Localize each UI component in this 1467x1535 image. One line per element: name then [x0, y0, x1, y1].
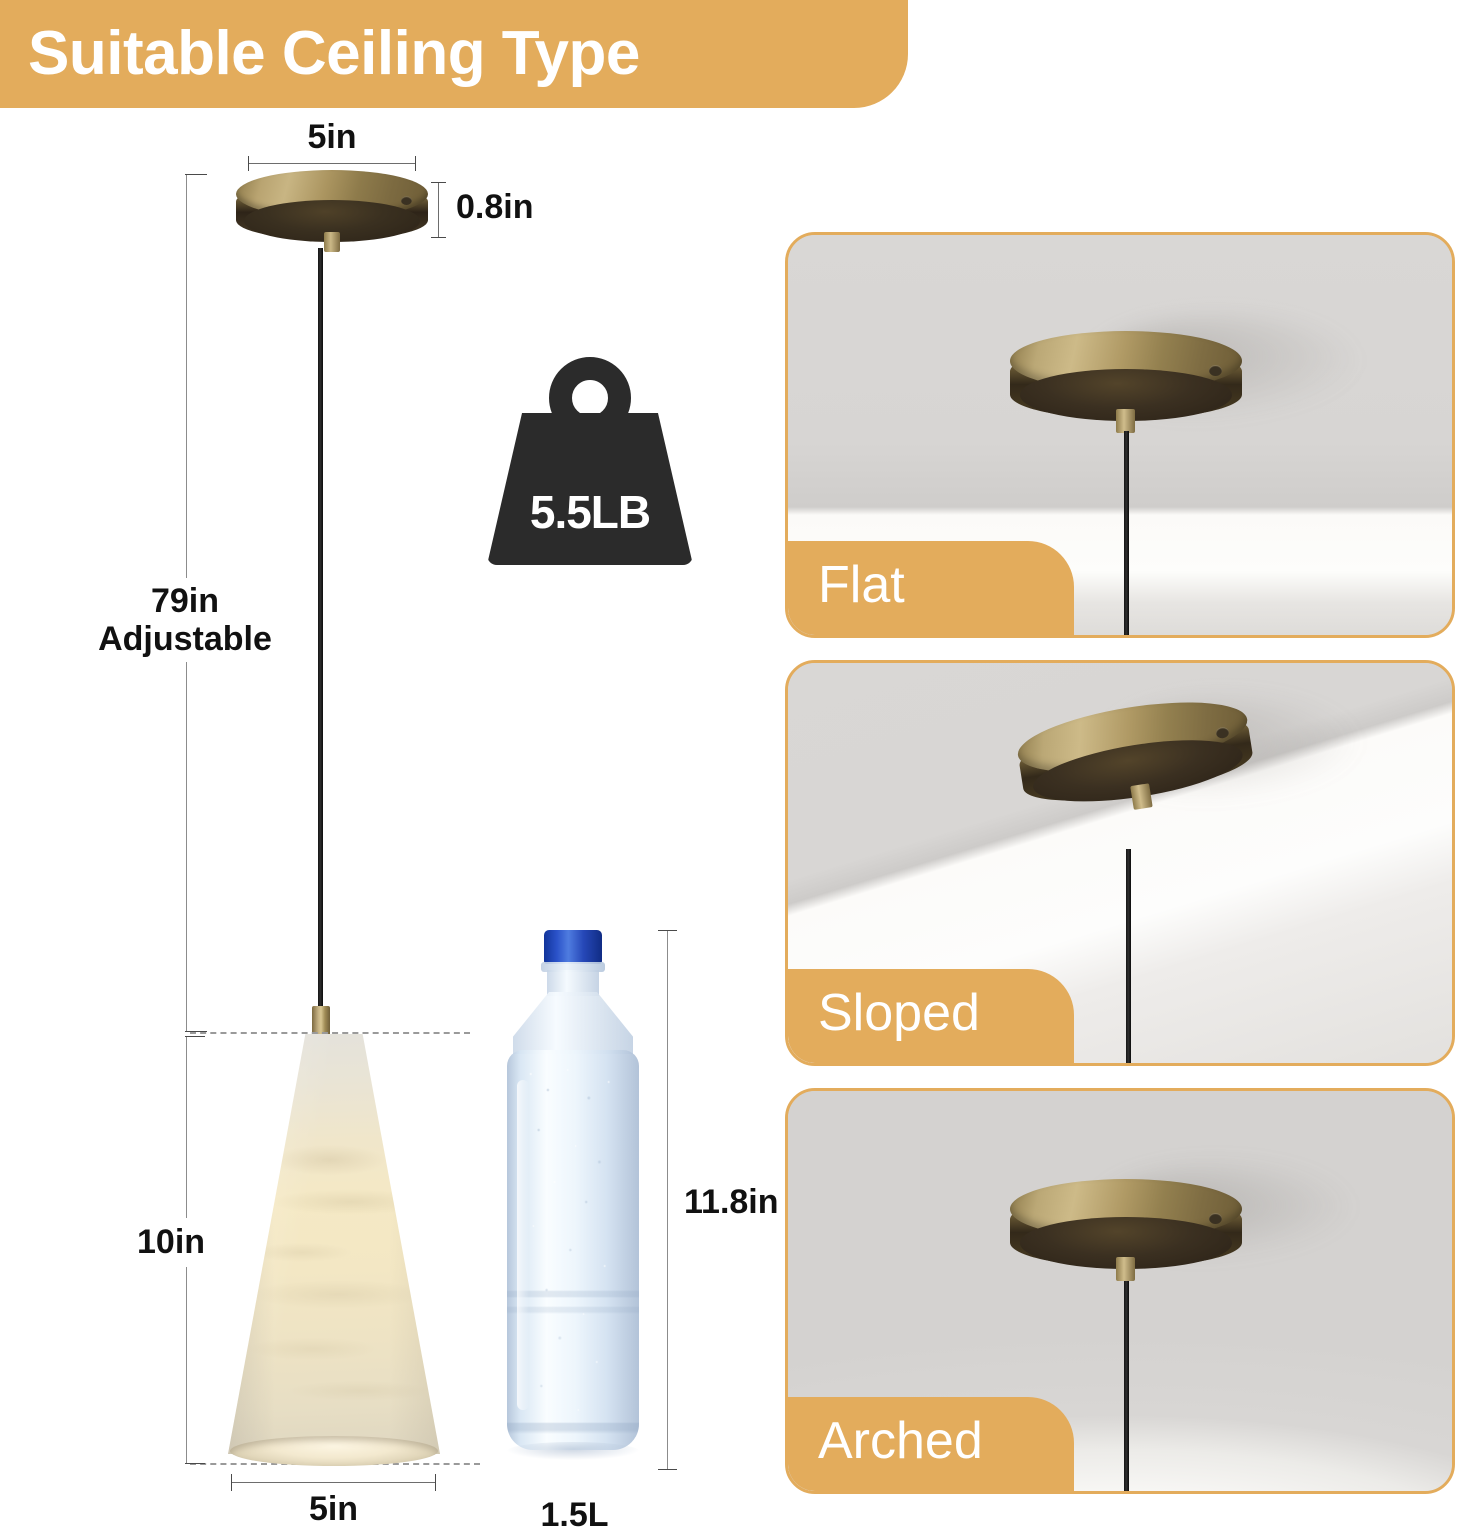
- shade-width-dimension-line: [231, 1482, 436, 1483]
- weight-value-label: 5.5LB: [487, 485, 693, 539]
- water-bottle-illustration: [487, 930, 662, 1490]
- product-dimension-diagram: 5in 0.8in 79inAdjustable 10in 5in 5.5LB: [0, 108, 790, 1500]
- pendant-cord: [318, 248, 323, 1024]
- panel-label-tab-sloped: Sloped: [788, 969, 1074, 1063]
- pendant-cord: [1124, 431, 1129, 638]
- canopy-cord-connector: [1116, 1257, 1135, 1281]
- pendant-cord: [1124, 1281, 1129, 1494]
- page-title: Suitable Ceiling Type: [28, 23, 640, 85]
- bottle-cap: [544, 930, 602, 964]
- bottle-volume-label: 1.5L: [487, 1496, 662, 1535]
- canopy-screw-icon: [1209, 365, 1222, 376]
- canopy-cord-connector: [1130, 783, 1153, 810]
- canopy-cord-connector: [1116, 409, 1135, 433]
- pendant-cord: [1126, 849, 1131, 1066]
- bottle-highlight: [517, 1080, 529, 1410]
- bottle-height-dimension-line: [667, 930, 668, 1470]
- canopy-height-dimension-line: [438, 182, 439, 238]
- bottle-height-label: 11.8in: [684, 1183, 779, 1222]
- canopy-cord-connector: [324, 232, 340, 252]
- cord-length-value: 79in: [151, 582, 219, 620]
- panel-label-tab-arched: Arched: [788, 1397, 1074, 1491]
- shade-bottom-opening: [230, 1436, 438, 1466]
- panel-label-sloped: Sloped: [818, 987, 980, 1039]
- ceiling-panel-sloped[interactable]: Sloped: [785, 660, 1455, 1066]
- panel-label-flat: Flat: [818, 559, 905, 611]
- canopy-screw-icon: [401, 196, 412, 205]
- panel-label-tab-flat: Flat: [788, 541, 1074, 635]
- canopy-on-arched-ceiling: [1010, 1179, 1242, 1283]
- shade-height-label: 10in: [134, 1218, 208, 1267]
- ceiling-panel-flat[interactable]: Flat: [785, 232, 1455, 638]
- bottle-base-shadow: [507, 1442, 639, 1460]
- canopy-height-label: 0.8in: [456, 188, 533, 227]
- cord-adjustable-text: Adjustable: [98, 620, 272, 658]
- canopy-screw-icon: [1209, 1213, 1222, 1224]
- canopy-width-label: 5in: [248, 118, 416, 157]
- bottle-shoulder: [513, 992, 633, 1054]
- ceiling-type-panels: Flat Sloped Arched: [785, 232, 1455, 1494]
- cord-length-label: 79inAdjustable: [70, 578, 300, 662]
- ceiling-panel-arched[interactable]: Arched: [785, 1088, 1455, 1494]
- canopy-illustration: [236, 170, 428, 250]
- lamp-shade-illustration: [228, 1034, 440, 1466]
- weight-icon: 5.5LB: [487, 357, 693, 565]
- canopy-width-dimension-line: [248, 163, 416, 164]
- panel-label-arched: Arched: [818, 1415, 983, 1467]
- shade-width-label: 5in: [231, 1490, 436, 1529]
- canopy-on-flat-ceiling: [1010, 331, 1242, 435]
- header-banner: Suitable Ceiling Type: [0, 0, 908, 108]
- shade-edge-shading: [228, 1034, 440, 1454]
